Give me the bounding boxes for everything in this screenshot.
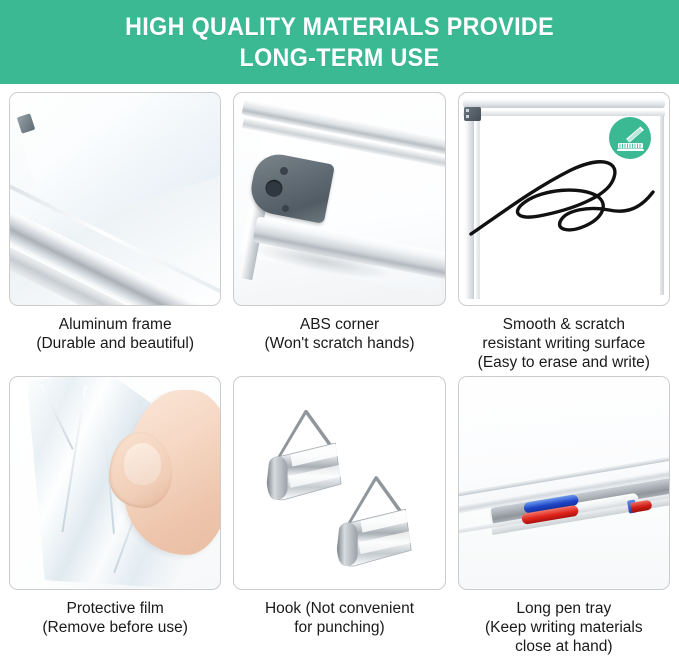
feature-caption-hooks: Hook (Not convenient for punching) [265,599,414,637]
feature-caption-abs-corner: ABS corner (Won't scratch hands) [265,315,415,353]
feature-image-hooks [233,376,445,590]
feature-caption-writing-surface: Smooth & scratch resistant writing surfa… [478,315,650,372]
feature-image-pen-tray [458,376,670,590]
feature-caption-pen-tray: Long pen tray (Keep writing materials cl… [485,599,643,656]
feature-cell-aluminum-frame: Aluminum frame (Durable and beautiful) [9,92,221,372]
header-banner: HIGH QUALITY MATERIALS PROVIDE LONG-TERM… [0,0,679,84]
feature-image-protective-film [9,376,221,590]
handwriting-squiggle [463,148,670,268]
hook-pair-illustration [234,377,444,589]
feature-image-aluminum-frame [9,92,221,306]
feature-cell-abs-corner: ABS corner (Won't scratch hands) [233,92,445,372]
feature-cell-pen-tray: Long pen tray (Keep writing materials cl… [458,376,670,656]
board-surface [9,92,221,230]
marker-cap-red [630,500,652,513]
feature-image-abs-corner [233,92,445,306]
feature-image-writing-surface [458,92,670,306]
feature-cell-hooks: Hook (Not convenient for punching) [233,376,445,656]
header-title-line-1: HIGH QUALITY MATERIALS PROVIDE [125,12,554,43]
feature-caption-protective-film: Protective film (Remove before use) [42,599,188,637]
feature-caption-aluminum-frame: Aluminum frame (Durable and beautiful) [36,315,194,353]
infographic-page: HIGH QUALITY MATERIALS PROVIDE LONG-TERM… [0,0,679,665]
header-title-line-2: LONG-TERM USE [240,43,440,74]
feature-cell-writing-surface: Smooth & scratch resistant writing surfa… [458,92,670,372]
thumbnail-illustration [124,443,162,485]
aluminum-frame-bar [9,201,221,306]
whiteboard-top-frame [463,99,665,108]
whiteboard-top-frame-inner [463,111,665,116]
feature-grid: Aluminum frame (Durable and beautiful) A… [0,84,679,656]
whiteboard-corner-bracket [464,107,481,121]
feature-cell-protective-film: Protective film (Remove before use) [9,376,221,656]
